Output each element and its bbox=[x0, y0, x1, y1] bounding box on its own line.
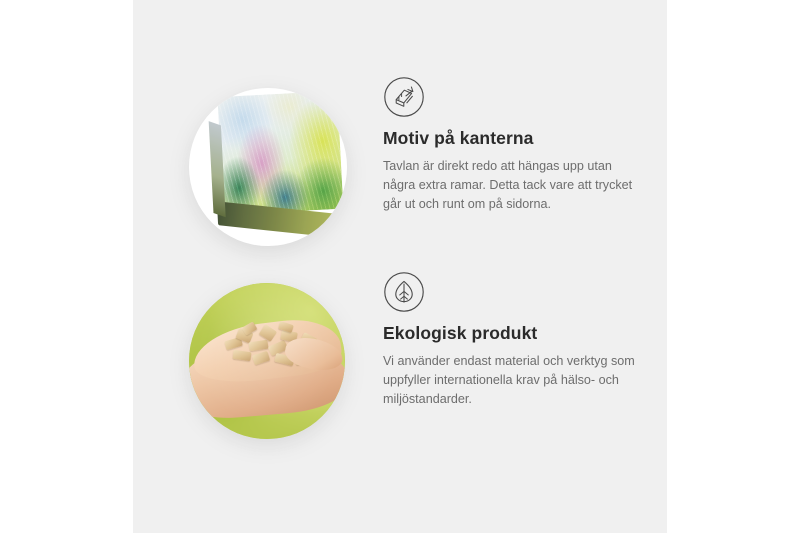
feature-body-edges: Tavlan är direkt redo att hängas upp uta… bbox=[383, 157, 645, 214]
product-feature-banner: Motiv på kanterna Tavlan är direkt redo … bbox=[0, 0, 800, 533]
canvas-front-face bbox=[217, 91, 343, 215]
feature-body-eco: Vi använder endast material och verktyg … bbox=[383, 352, 645, 409]
leaf-icon bbox=[383, 271, 425, 313]
feature-text-edges: Motiv på kanterna Tavlan är direkt redo … bbox=[383, 76, 663, 214]
hands-with-wood-chips-photo bbox=[189, 283, 345, 439]
feature-block-edges: Motiv på kanterna Tavlan är direkt redo … bbox=[133, 76, 667, 256]
canvas-artwork bbox=[211, 91, 344, 237]
content-panel: Motiv på kanterna Tavlan är direkt redo … bbox=[133, 0, 667, 533]
canvas-corner-photo bbox=[189, 88, 347, 246]
feature-title-eco: Ekologisk produkt bbox=[383, 323, 663, 345]
feature-block-eco: Ekologisk produkt Vi använder endast mat… bbox=[133, 271, 667, 451]
photo-highlight bbox=[189, 283, 345, 439]
canvas-wrapped-edges-icon bbox=[383, 76, 425, 118]
feature-text-eco: Ekologisk produkt Vi använder endast mat… bbox=[383, 271, 663, 409]
feature-title-edges: Motiv på kanterna bbox=[383, 128, 663, 150]
